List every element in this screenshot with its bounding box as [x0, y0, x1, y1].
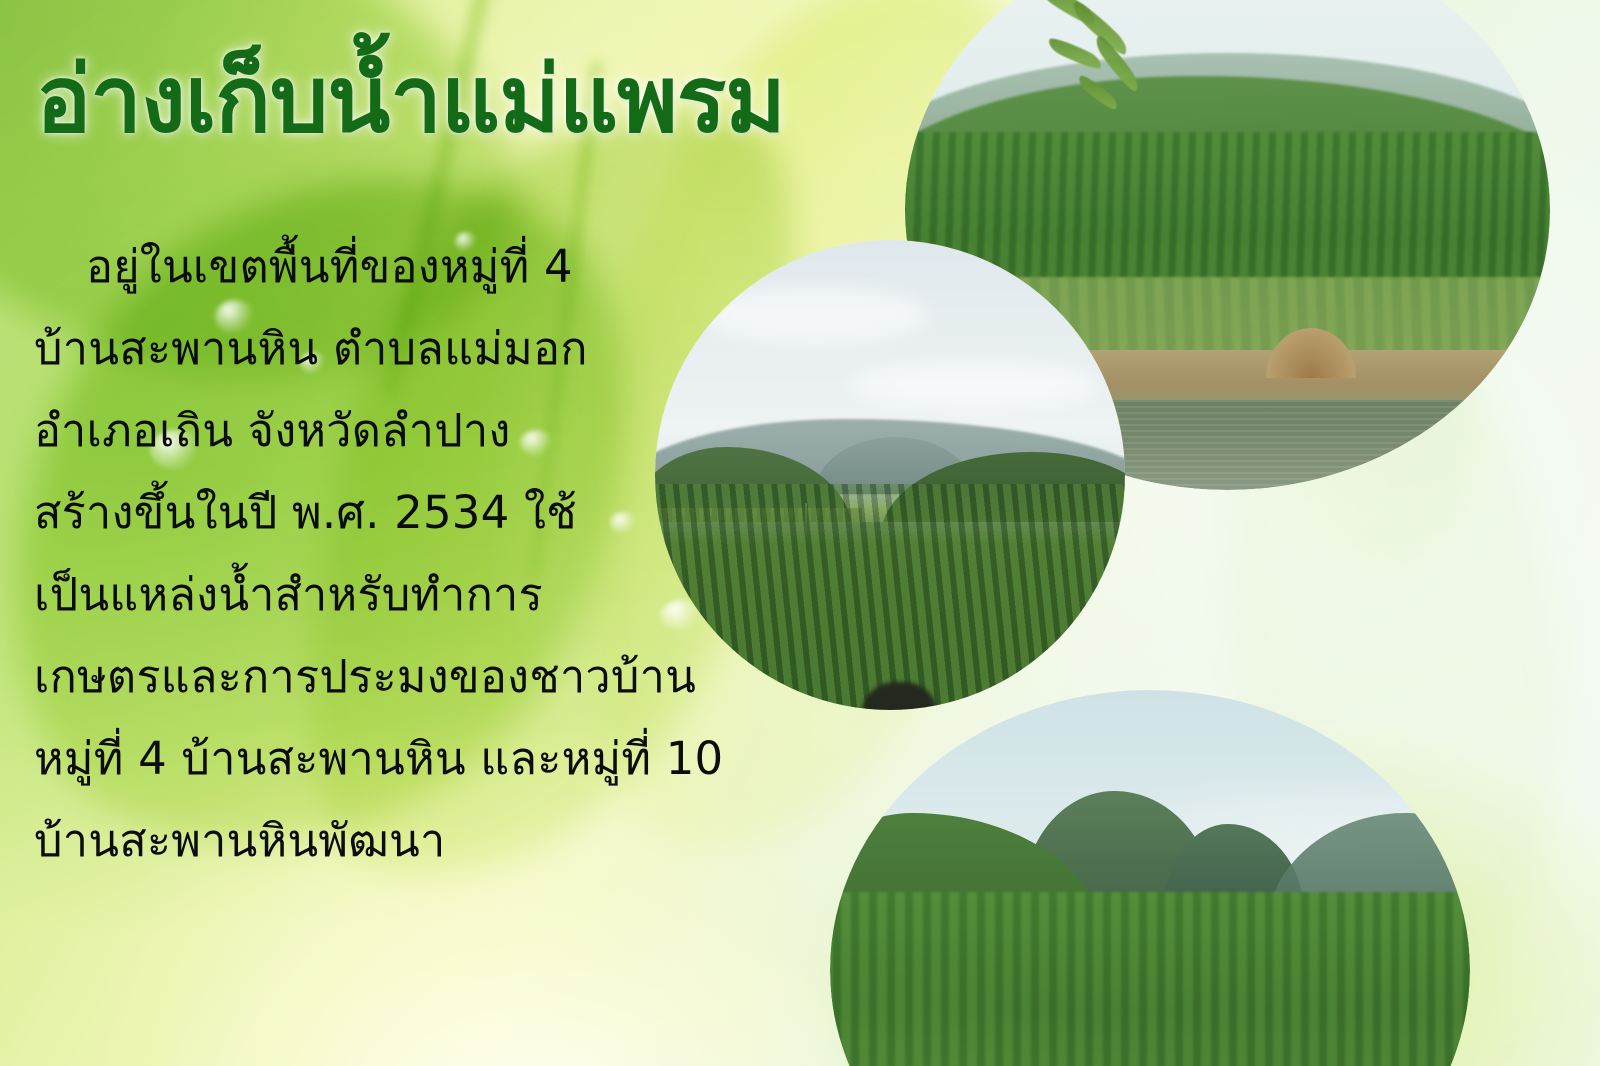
- body-line: เป็นแหล่งน้ำสำหรับทำการ: [34, 554, 834, 636]
- body-line: เกษตรและการประมงของชาวบ้าน: [34, 636, 834, 718]
- body-line: อำเภอเถิน จังหวัดลำปาง: [34, 390, 834, 472]
- photo-forest-band: [830, 892, 1470, 1066]
- body-line: สร้างขึ้นในปี พ.ศ. 2534 ใช้: [34, 472, 834, 554]
- photo-circle-misty-mountains: [830, 690, 1470, 1066]
- body-line: หมู่ที่ 4 บ้านสะพานหิน และหมู่ที่ 10: [34, 718, 834, 800]
- presentation-slide: อ่างเก็บน้ำแม่แพรม อยู่ในเขตพื้นที่ของหม…: [0, 0, 1600, 1066]
- page-title: อ่างเก็บน้ำแม่แพรม: [36, 52, 785, 149]
- body-line: บ้านสะพานหินพัฒนา: [34, 800, 834, 882]
- body-line: อยู่ในเขตพื้นที่ของหมู่ที่ 4: [34, 226, 834, 308]
- body-paragraph: อยู่ในเขตพื้นที่ของหมู่ที่ 4 บ้านสะพานหิ…: [34, 226, 834, 882]
- photo-cloud: [852, 362, 1096, 409]
- body-line: บ้านสะพานหิน ตำบลแม่มอก: [34, 308, 834, 390]
